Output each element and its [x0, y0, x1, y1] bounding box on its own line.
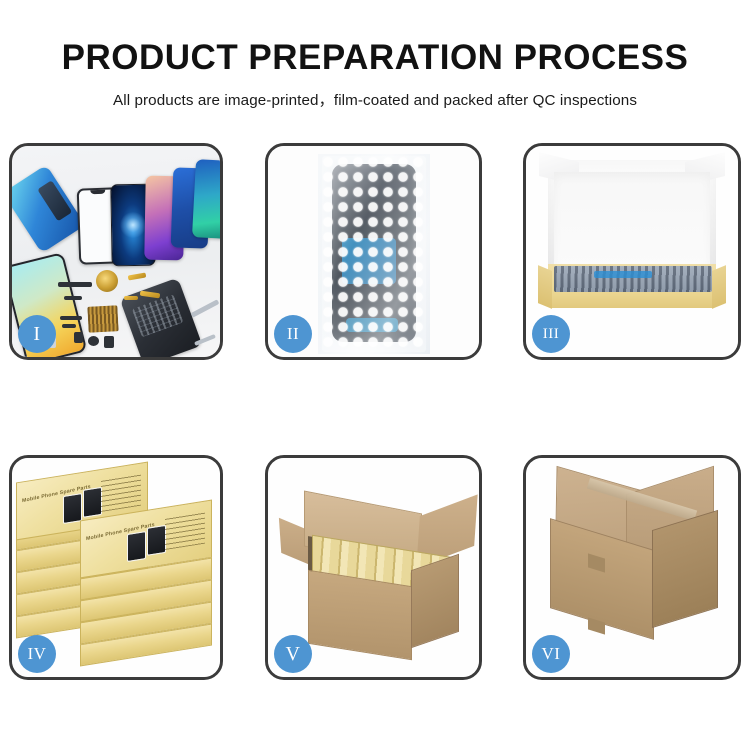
process-row-2: Mobile Phone Spare Parts Mobile Phone Sp… [0, 455, 750, 680]
screw-tray-part-icon [87, 305, 118, 333]
connector-part-icon [62, 324, 76, 328]
step-badge-3: III [532, 315, 570, 353]
step-badge-5: V [274, 635, 312, 673]
step-badge-2: II [274, 315, 312, 353]
camera-part-icon [74, 332, 83, 343]
box-screenshot-right [83, 487, 102, 518]
step-panel-2[interactable]: II [265, 143, 482, 360]
step-badge-6: VI [532, 635, 570, 673]
box-spec-lines [165, 510, 205, 550]
earpiece-part-icon [58, 282, 92, 287]
step-badge-4: IV [18, 635, 56, 673]
step-badge-1: I [18, 315, 56, 353]
box-screenshot-left [63, 493, 82, 524]
step-panel-4[interactable]: Mobile Phone Spare Parts Mobile Phone Sp… [9, 455, 223, 680]
step-panel-5[interactable]: V [265, 455, 482, 680]
packed-screens-image [554, 266, 712, 292]
process-row-1: I II III [0, 143, 750, 360]
gold-strip-part-icon [124, 296, 138, 300]
box-screenshot-right [147, 525, 166, 556]
page-header: PRODUCT PREPARATION PROCESS All products… [0, 0, 750, 110]
plastic-sheen-overlay [318, 154, 430, 354]
cable-part-icon [60, 316, 82, 320]
sealed-carton-side-face [652, 510, 718, 628]
taptic-part-icon [104, 336, 114, 348]
speaker-coil-part-icon [96, 270, 118, 292]
carton-side-face [411, 554, 459, 649]
phone-teal-screen-image [192, 159, 220, 239]
box-screenshot-left [127, 531, 146, 562]
button-part-icon [88, 336, 99, 346]
page-subtitle: All products are image-printed，film-coat… [0, 78, 750, 110]
step-panel-1[interactable]: I [9, 143, 223, 360]
step-panel-3[interactable]: III [523, 143, 741, 360]
step-panel-6[interactable]: VI [523, 455, 741, 680]
white-box-interior [554, 172, 710, 268]
page-title: PRODUCT PREPARATION PROCESS [0, 0, 750, 78]
antenna-part-icon [64, 296, 82, 300]
box-spec-lines [101, 472, 141, 512]
